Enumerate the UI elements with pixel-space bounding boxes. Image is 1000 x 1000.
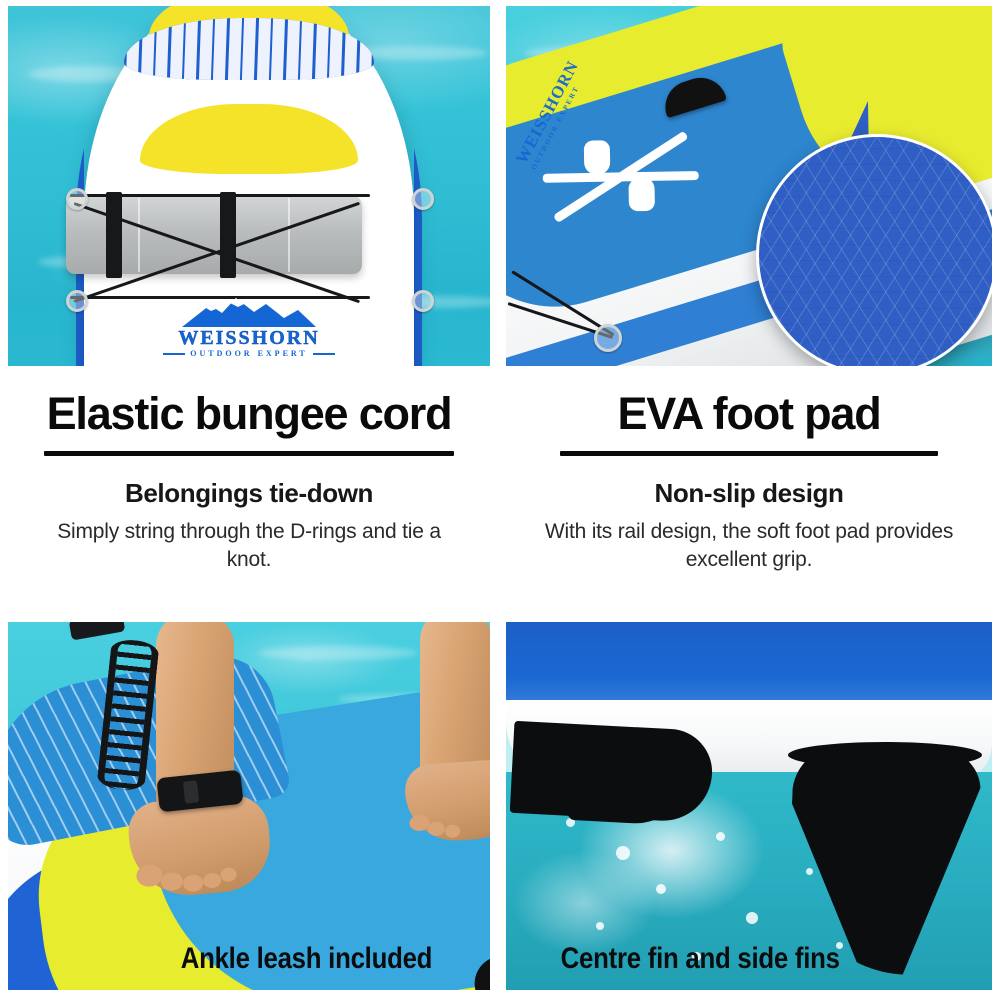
photo-caption-ankle-leash: Ankle leash included — [42, 942, 457, 976]
photo-content: WEISSHORN OUTDOOR EXPERT — [8, 6, 490, 366]
water-foam — [806, 868, 813, 875]
photo-caption-fins: Centre fin and side fins — [540, 942, 958, 976]
d-ring-icon — [412, 290, 434, 312]
rear-foot — [403, 758, 490, 844]
photo-fins: Centre fin and side fins — [506, 622, 992, 990]
water-ripple — [258, 646, 418, 660]
brand-tagline: OUTDOOR EXPERT — [190, 348, 308, 360]
feature-body: Simply string through the D-rings and ti… — [49, 518, 449, 574]
feature-text-eva-foot-pad: EVA foot pad Non-slip design With its ra… — [506, 372, 992, 618]
blue-stripe-band — [124, 18, 374, 80]
yellow-arc-bottom — [140, 104, 358, 174]
d-ring-icon — [412, 188, 434, 210]
feature-subhead: Non-slip design — [506, 478, 992, 508]
photo-elastic-bungee-cord: WEISSHORN OUTDOOR EXPERT — [8, 6, 490, 366]
water-foam — [656, 884, 666, 894]
photo-content: Ankle leash included — [8, 622, 490, 990]
mountain-range-icon — [174, 296, 324, 328]
magnifier-circle-icon — [756, 134, 992, 366]
brand-logo: WEISSHORN OUTDOOR EXPERT — [149, 296, 349, 360]
board-rail — [506, 622, 992, 700]
brand-tagline-row: OUTDOOR EXPERT — [149, 348, 349, 360]
bungee-cord — [70, 194, 370, 197]
water-foam — [746, 912, 758, 924]
d-ring-icon — [66, 290, 88, 312]
infographic-sheet: WEISSHORN OUTDOOR EXPERT — [0, 0, 1000, 1000]
feature-headline: Elastic bungee cord — [8, 372, 490, 440]
d-ring-icon — [594, 324, 622, 352]
feature-body: With its rail design, the soft foot pad … — [544, 518, 954, 574]
headline-divider — [44, 451, 454, 456]
brand-name: WEISSHORN — [149, 328, 349, 348]
d-ring-icon — [66, 188, 88, 210]
feature-subhead: Belongings tie-down — [8, 478, 490, 508]
water-foam — [716, 832, 725, 841]
photo-ankle-leash: Ankle leash included — [8, 622, 490, 990]
bag-strap — [106, 192, 122, 278]
side-fin — [510, 721, 715, 823]
feature-headline: EVA foot pad — [506, 372, 992, 440]
bag-strap — [220, 192, 236, 278]
photo-content: WEISSHORNOUTDOOR EXPERT — [506, 6, 992, 366]
headline-divider — [560, 451, 938, 456]
photo-content: Centre fin and side fins — [506, 622, 992, 990]
photo-eva-foot-pad: WEISSHORNOUTDOOR EXPERT — [506, 6, 992, 366]
water-foam — [616, 846, 630, 860]
feature-text-elastic-bungee-cord: Elastic bungee cord Belongings tie-down … — [8, 372, 490, 618]
water-foam — [596, 922, 604, 930]
